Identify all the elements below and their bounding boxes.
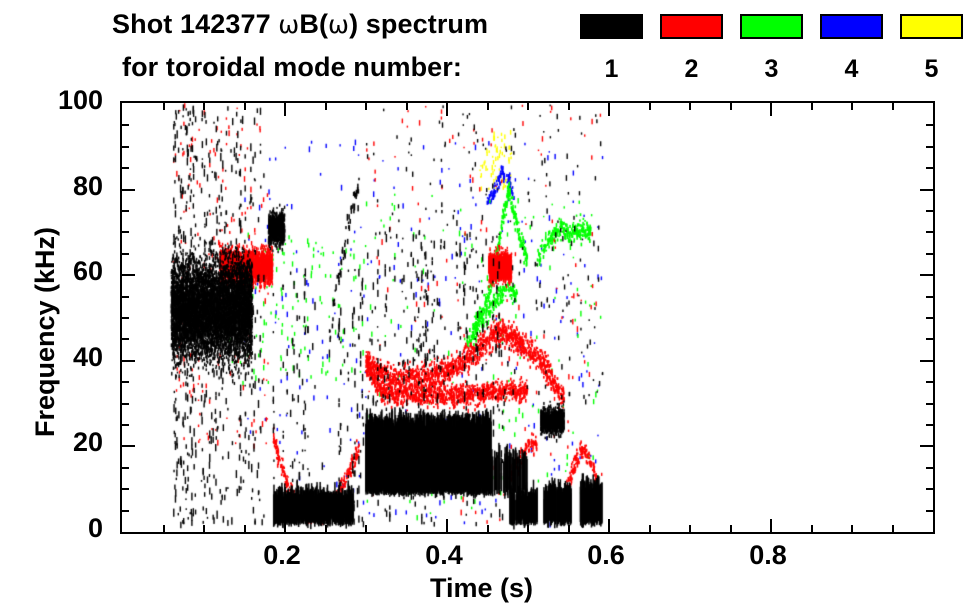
x-tick-0.75	[730, 525, 732, 532]
legend-label-4: 4	[820, 55, 883, 83]
x-axis-title: Time (s)	[0, 573, 963, 604]
legend-swatch-2	[660, 14, 723, 39]
x-tick-top-0.4	[446, 103, 448, 116]
y-tick-70	[122, 231, 129, 233]
x-tick-top-0.95	[892, 103, 894, 110]
legend-swatch-4	[820, 14, 883, 39]
y-tick-80	[122, 189, 135, 191]
y-tick-right-90	[926, 146, 933, 148]
y-tick-25	[122, 424, 129, 426]
y-tick-right-95	[926, 124, 933, 126]
x-tick-top-0.2	[284, 103, 286, 116]
y-tick-35	[122, 381, 129, 383]
y-tick-right-20	[920, 445, 933, 447]
x-tick-0.35	[406, 525, 408, 532]
x-tick-label-0.4: 0.4	[399, 540, 489, 571]
y-tick-right-30	[926, 403, 933, 405]
x-tick-0.9	[851, 525, 853, 532]
x-tick-label-0.6: 0.6	[561, 540, 651, 571]
x-tick-top-0.15	[244, 103, 246, 110]
y-tick-45	[122, 338, 129, 340]
y-tick-55	[122, 296, 129, 298]
y-tick-20	[122, 445, 135, 447]
y-tick-right-80	[920, 189, 933, 191]
y-tick-15	[122, 467, 129, 469]
x-tick-top-0.7	[689, 103, 691, 110]
x-tick-0.5	[527, 525, 529, 532]
y-tick-right-55	[926, 296, 933, 298]
y-tick-60	[122, 274, 135, 276]
x-tick-0.3	[365, 525, 367, 532]
x-tick-top-0.1	[203, 103, 205, 110]
y-tick-75	[122, 210, 129, 212]
y-tick-label-0: 0	[8, 513, 103, 544]
y-tick-label-100: 100	[8, 85, 103, 116]
legend-label-2: 2	[660, 55, 723, 83]
y-tick-right-40	[920, 360, 933, 362]
y-tick-right-35	[926, 381, 933, 383]
y-tick-5	[122, 510, 129, 512]
x-tick-top-0.65	[649, 103, 651, 110]
legend-label-1: 1	[580, 55, 643, 83]
y-axis-title: Frequency (kHz)	[30, 227, 61, 437]
y-tick-right-60	[920, 274, 933, 276]
x-tick-top-0.05	[163, 103, 165, 110]
y-tick-right-10	[926, 488, 933, 490]
x-tick-0.95	[892, 525, 894, 532]
legend-label-3: 3	[740, 55, 803, 83]
x-tick-top-0.5	[527, 103, 529, 110]
x-tick-top-0.45	[487, 103, 489, 110]
x-tick-0.45	[487, 525, 489, 532]
y-tick-50	[122, 317, 129, 319]
x-tick-0.25	[325, 525, 327, 532]
x-tick-0.85	[811, 525, 813, 532]
y-tick-right-70	[926, 231, 933, 233]
x-tick-top-0.8	[770, 103, 772, 116]
legend-label-5: 5	[900, 55, 963, 83]
x-tick-0.8	[770, 519, 772, 532]
x-tick-label-0.2: 0.2	[237, 540, 327, 571]
x-tick-top-0.75	[730, 103, 732, 110]
y-tick-right-75	[926, 210, 933, 212]
legend-swatch-1	[580, 14, 643, 39]
y-tick-90	[122, 146, 129, 148]
legend: 12345	[0, 0, 963, 95]
y-tick-65	[122, 253, 129, 255]
y-tick-label-80: 80	[8, 171, 103, 202]
spectrogram-figure: Shot 142377 ωB(ω) spectrum for toroidal …	[0, 0, 963, 615]
y-tick-right-15	[926, 467, 933, 469]
x-tick-top-0.35	[406, 103, 408, 110]
x-tick-0.1	[203, 525, 205, 532]
x-tick-top-0.6	[608, 103, 610, 116]
x-tick-0.4	[446, 519, 448, 532]
x-tick-0.05	[163, 525, 165, 532]
y-tick-40	[122, 360, 135, 362]
y-tick-right-50	[926, 317, 933, 319]
x-tick-top-0.9	[851, 103, 853, 110]
x-tick-0.15	[244, 525, 246, 532]
legend-swatch-5	[900, 14, 963, 39]
y-tick-95	[122, 124, 129, 126]
y-tick-85	[122, 167, 129, 169]
y-tick-right-85	[926, 167, 933, 169]
y-tick-right-65	[926, 253, 933, 255]
x-tick-top-0.25	[325, 103, 327, 110]
plot-frame	[120, 101, 935, 534]
y-tick-10	[122, 488, 129, 490]
y-tick-right-45	[926, 338, 933, 340]
spectrogram-canvas	[122, 103, 932, 531]
y-tick-30	[122, 403, 129, 405]
x-tick-0.6	[608, 519, 610, 532]
x-tick-top-0.55	[568, 103, 570, 110]
legend-swatch-3	[740, 14, 803, 39]
x-tick-top-0.3	[365, 103, 367, 110]
y-tick-right-25	[926, 424, 933, 426]
x-tick-0.7	[689, 525, 691, 532]
x-tick-0.2	[284, 519, 286, 532]
y-tick-right-5	[926, 510, 933, 512]
x-tick-label-0.8: 0.8	[723, 540, 813, 571]
x-tick-0.55	[568, 525, 570, 532]
x-tick-top-0.85	[811, 103, 813, 110]
x-tick-0.65	[649, 525, 651, 532]
